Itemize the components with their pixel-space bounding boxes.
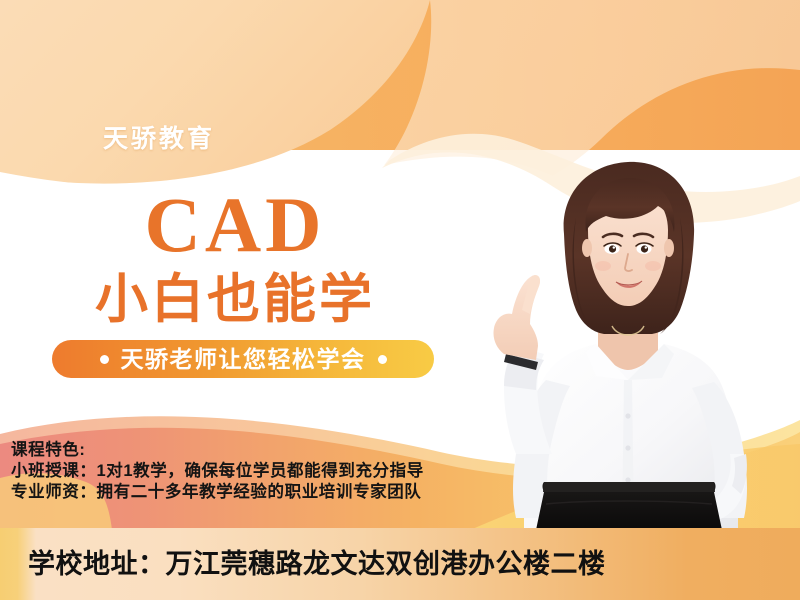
feature-line-teachers: 专业师资：拥有二十多年教学经验的职业培训专家团队 — [11, 482, 571, 503]
course-features: 课程特色: 小班授课：1对1教学，确保每位学员都能得到充分指导 专业师资：拥有二… — [11, 440, 571, 503]
brand-name: 天骄教育 — [103, 127, 215, 152]
dot-icon-left — [100, 355, 109, 364]
headline-block: CAD 小白也能学 — [0, 186, 470, 328]
feature-line-small-class: 小班授课：1对1教学，确保每位学员都能得到充分指导 — [11, 461, 571, 482]
slogan-badge-label: 天骄老师让您轻松学会 — [121, 348, 366, 371]
page-subtitle: 小白也能学 — [0, 272, 470, 328]
address-bar: 学校地址：万江莞穗路龙文达双创港办公楼二楼 — [0, 528, 800, 600]
dot-icon-right — [378, 355, 387, 364]
features-heading: 课程特色: — [11, 440, 571, 461]
slogan-badge: 天骄老师让您轻松学会 — [52, 340, 434, 378]
address-text: 学校地址：万江莞穗路龙文达双创港办公楼二楼 — [28, 551, 606, 578]
poster-root: 天骄教育 CAD 小白也能学 天骄老师让您轻松学会 课程特色: 小班授课：1对1… — [0, 0, 800, 600]
page-title: CAD — [0, 186, 470, 264]
